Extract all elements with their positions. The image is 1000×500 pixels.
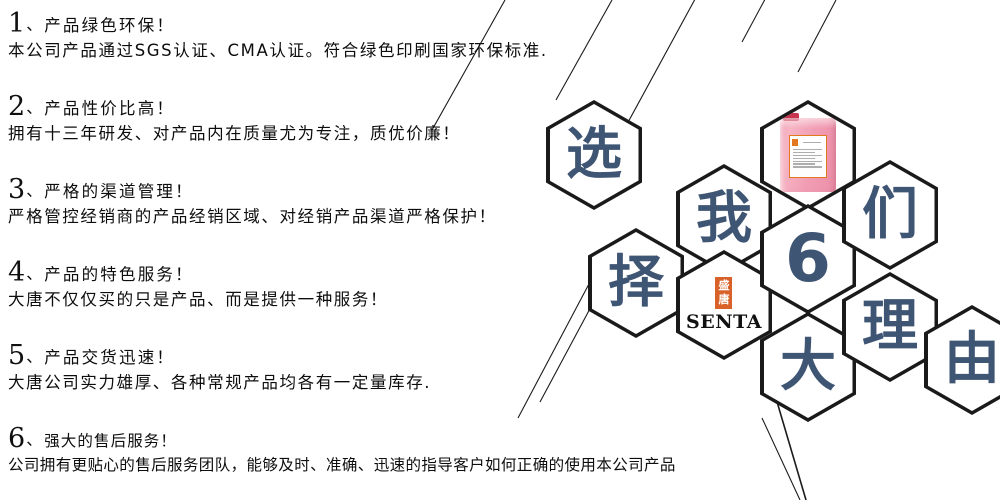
reason-separator: 、	[26, 267, 42, 283]
reason-item-5: 5 、 产品交货迅速！ 大唐公司实力雄厚、各种常规产品均各有一定量库存.	[8, 342, 431, 393]
reason-number: 6	[8, 425, 25, 452]
hex-cell-logo[interactable]: 盛 唐 SENTA	[676, 250, 772, 360]
label-header	[792, 138, 824, 147]
reason-number: 3	[8, 176, 25, 203]
hex-glyph-ze: 择	[608, 255, 664, 311]
reason-title: 产品绿色环保！	[44, 18, 175, 35]
label-line	[793, 152, 815, 153]
hex-inner	[764, 104, 853, 206]
hex-inner: 6	[764, 208, 853, 310]
reason-heading: 5 、 产品交货迅速！	[8, 342, 431, 369]
senta-logo: 盛 唐 SENTA	[686, 277, 762, 333]
reason-item-4: 4 、 产品的特色服务！ 大唐不仅仅买的只是产品、而是提供一种服务！	[8, 259, 388, 310]
hex-inner: 理	[846, 276, 935, 378]
hex-glyph-xuan: 选	[566, 127, 622, 183]
hex-cell-xuan[interactable]: 选	[546, 100, 642, 210]
hex-inner: 盛 唐 SENTA	[680, 254, 769, 356]
senta-logo-mark: 盛 唐	[715, 277, 732, 309]
hex-cell-li[interactable]: 理	[842, 272, 938, 382]
hex-inner: 选	[550, 104, 639, 206]
hex-inner: 大	[764, 316, 853, 418]
label-line	[793, 161, 822, 162]
reason-body: 大唐公司实力雄厚、各种常规产品均各有一定量库存.	[8, 374, 431, 393]
hex-glyph-li: 理	[862, 299, 918, 355]
reason-heading: 1 、 产品绿色环保！	[8, 10, 548, 37]
reason-body: 大唐不仅仅买的只是产品、而是提供一种服务！	[8, 291, 388, 310]
reason-separator: 、	[26, 101, 42, 117]
jerrycan-label	[789, 135, 827, 178]
label-line	[793, 149, 822, 150]
hex-glyph-wo: 我	[696, 191, 752, 247]
reason-heading: 6 、 强大的售后服务！	[8, 425, 676, 452]
hex-cell-six[interactable]: 6	[760, 204, 856, 314]
hex-cell-product[interactable]	[760, 100, 856, 210]
label-swatch	[792, 139, 798, 146]
reason-body: 拥有十三年研发、对产品内在质量尤为专注，质优价廉！	[8, 125, 461, 144]
hex-cell-ze[interactable]: 择	[588, 228, 684, 338]
reason-item-1: 1 、 产品绿色环保！ 本公司产品通过SGS认证、CMA认证。符合绿色印刷国家环…	[8, 10, 548, 61]
reason-number: 5	[8, 342, 25, 369]
label-line	[793, 158, 815, 159]
hex-glyph-da: 大	[780, 339, 836, 395]
hex-cell-men[interactable]: 们	[842, 160, 938, 270]
reason-heading: 2 、 产品性价比高！	[8, 93, 461, 120]
reason-heading: 4 、 产品的特色服务！	[8, 259, 388, 286]
label-line	[803, 142, 821, 143]
reason-body: 严格管控经销商的产品经销区域、对经销产品渠道严格保护！	[8, 208, 497, 227]
reason-number: 1	[8, 10, 25, 37]
reason-body: 公司拥有更贴心的售后服务团队，能够及时、准确、迅速的指导客户如何正确的使用本公司…	[8, 457, 676, 475]
reason-heading: 3 、 严格的渠道管理！	[8, 176, 497, 203]
reason-item-3: 3 、 严格的渠道管理！ 严格管控经销商的产品经销区域、对经销产品渠道严格保护！	[8, 176, 497, 227]
senta-wordmark: SENTA	[686, 311, 762, 333]
reason-body: 本公司产品通过SGS认证、CMA认证。符合绿色印刷国家环保标准.	[8, 42, 548, 61]
label-line	[793, 166, 822, 167]
jerrycan-highlight	[780, 118, 836, 128]
reason-separator: 、	[26, 350, 42, 366]
hex-glyph-six: 6	[785, 226, 831, 292]
reason-item-6: 6 、 强大的售后服务！ 公司拥有更贴心的售后服务团队，能够及时、准确、迅速的指…	[8, 425, 676, 475]
reason-separator: 、	[26, 184, 42, 200]
reason-title: 严格的渠道管理！	[44, 184, 194, 201]
reason-item-2: 2 、 产品性价比高！ 拥有十三年研发、对产品内在质量尤为专注，质优价廉！	[8, 93, 461, 144]
label-line	[793, 163, 815, 164]
hex-inner: 由	[928, 309, 1000, 411]
reason-title: 产品性价比高！	[44, 101, 175, 118]
logo-char-sheng: 盛	[718, 279, 729, 293]
hex-inner: 择	[592, 232, 681, 334]
logo-char-tang: 唐	[718, 293, 729, 307]
hex-cell-da[interactable]: 大	[760, 312, 856, 422]
reason-number: 4	[8, 259, 25, 286]
label-line	[793, 155, 822, 156]
reason-title: 产品交货迅速！	[44, 350, 175, 367]
reason-number: 2	[8, 93, 25, 120]
hex-inner: 们	[846, 164, 935, 266]
reason-separator: 、	[26, 18, 42, 34]
reason-separator: 、	[26, 433, 42, 449]
product-jerrycan-image	[780, 118, 836, 192]
hex-glyph-men: 们	[862, 187, 918, 243]
hex-glyph-you: 由	[944, 332, 1000, 388]
reason-title: 强大的售后服务！	[44, 434, 177, 450]
reason-title: 产品的特色服务！	[44, 267, 194, 284]
